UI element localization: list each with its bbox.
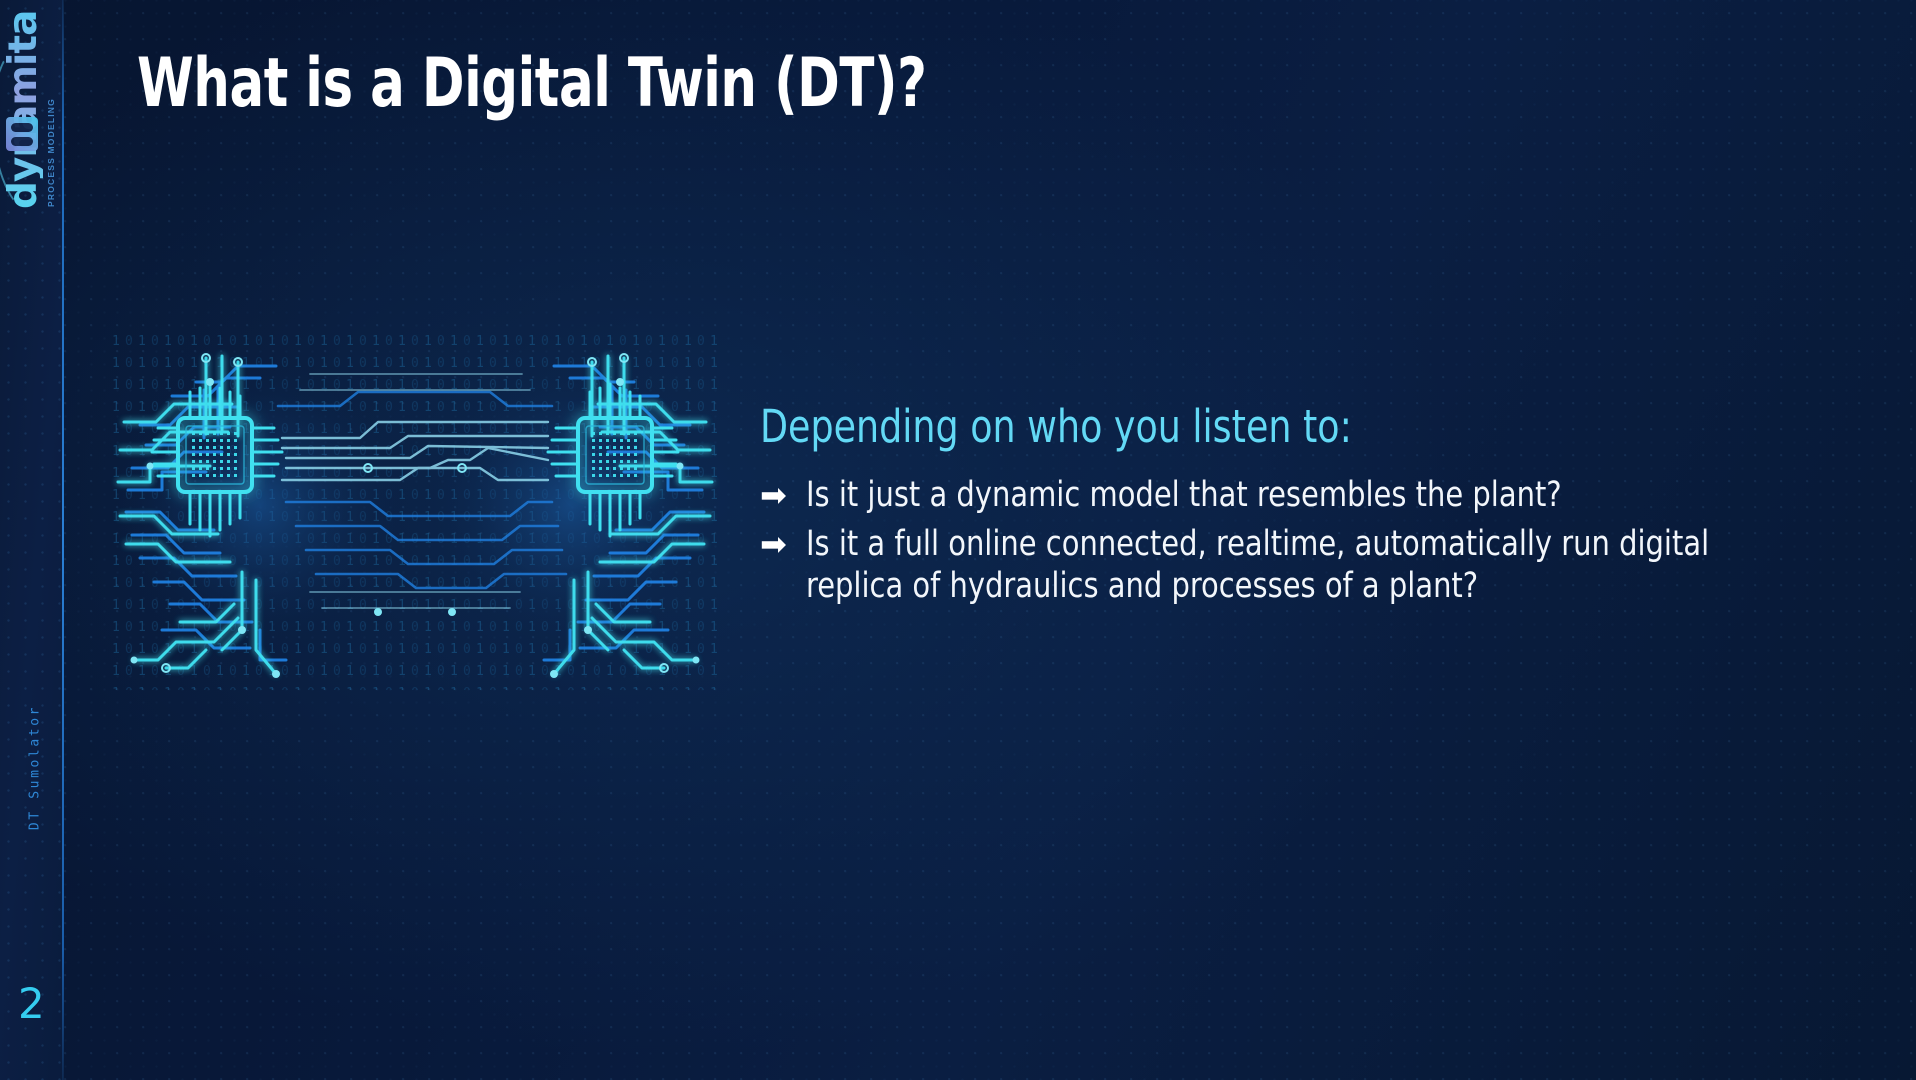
bullet-item: ➡ Is it a full online connected, realtim… [760,524,1860,607]
deck-label: DT Sumolator [28,678,43,858]
content-column: Depending on who you listen to: ➡ Is it … [760,400,1860,615]
bullet-text: Is it just a dynamic model that resemble… [806,475,1776,516]
circuit-board-illustration: 1 0 [110,330,720,690]
logo-subtitle: PROCESS MODELING [46,98,56,207]
sidebar-divider [62,0,64,1080]
arrow-right-icon: ➡ [760,524,806,564]
dynamita-logo-icon [6,117,38,151]
bullet-text: Is it a full online connected, realtime,… [806,524,1776,607]
sidebar: dynamita PROCESS MODELING DT Sumolator 2 [0,0,63,1080]
brand-logo[interactable]: dynamita PROCESS MODELING [2,49,60,209]
logo-wordmark: dynamita [4,11,43,209]
arrow-right-icon: ➡ [760,475,806,515]
page-number: 2 [18,983,45,1025]
bullet-item: ➡ Is it just a dynamic model that resemb… [760,475,1860,516]
slide-title: What is a Digital Twin (DT)? [137,44,926,123]
slide-root: dynamita PROCESS MODELING DT Sumolator 2… [0,0,1916,1080]
content-heading: Depending on who you listen to: [760,400,1750,453]
